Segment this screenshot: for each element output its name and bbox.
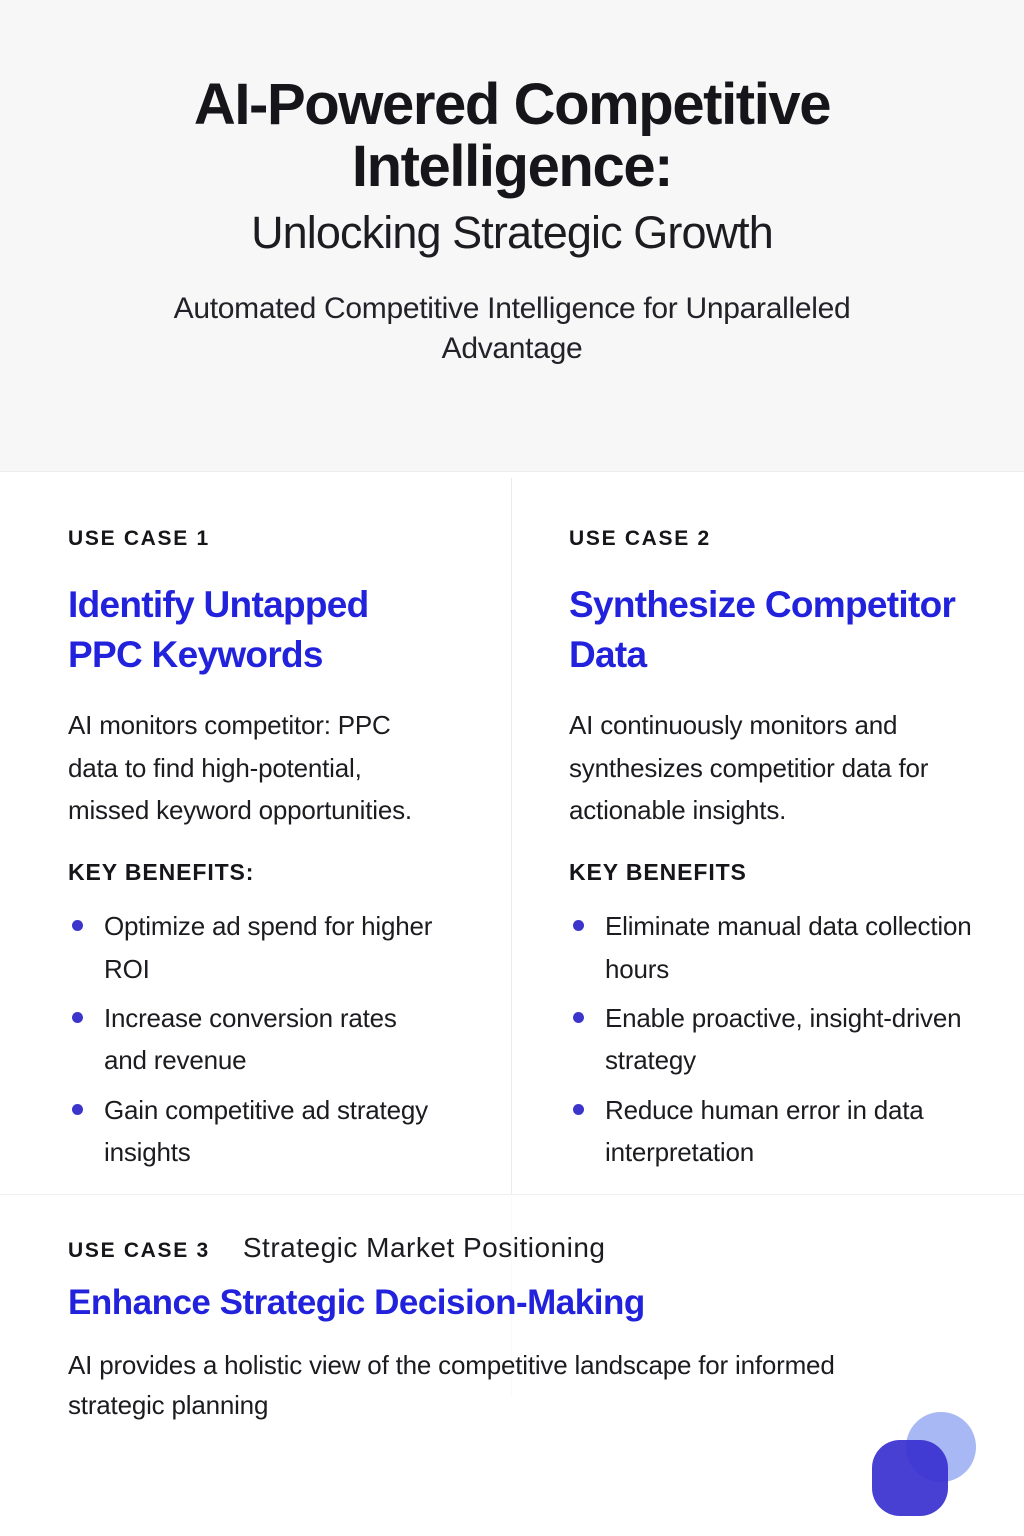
list-item: Gain competitive ad strategy insights xyxy=(68,1089,444,1174)
list-item-label: Reduce human error in data interpretatio… xyxy=(605,1095,924,1167)
list-item: Reduce human error in data interpretatio… xyxy=(569,1089,984,1174)
bullet-dot-icon xyxy=(72,1012,83,1023)
page-tagline: Automated Competitive Intelligence for U… xyxy=(122,289,902,370)
use-case-2-kicker: USE CASE 2 xyxy=(569,527,984,551)
list-item: Optimize ad spend for higher ROI xyxy=(68,905,444,990)
bullet-dot-icon xyxy=(72,1104,83,1115)
page-subtitle: Unlocking Strategic Growth xyxy=(82,208,942,258)
page-title: AI-Powered Competitive Intelligence: xyxy=(102,74,922,198)
use-case-1-body: AI monitors competitor: PPC data to find… xyxy=(68,704,444,831)
bullet-dot-icon xyxy=(573,1104,584,1115)
infographic-page: AI-Powered Competitive Intelligence: Unl… xyxy=(0,0,1024,1536)
use-case-2-body: AI continuously monitors and synthesizes… xyxy=(569,704,984,831)
use-case-3-kicker: USE CASE 3 xyxy=(68,1239,210,1263)
list-item: Eliminate manual data collection hours xyxy=(569,905,984,990)
use-case-3-tag: Strategic Market Positioning xyxy=(243,1232,606,1264)
logo-squircle-shape xyxy=(872,1440,948,1516)
header-band: AI-Powered Competitive Intelligence: Unl… xyxy=(0,0,1024,472)
list-item: Increase conversion rates and revenue xyxy=(68,997,444,1082)
list-item-label: Gain competitive ad strategy insights xyxy=(104,1095,428,1167)
list-item-label: Eliminate manual data collection hours xyxy=(605,911,971,983)
list-item-label: Increase conversion rates and revenue xyxy=(104,1003,397,1075)
use-case-columns: USE CASE 1 Identify Untapped PPC Keyword… xyxy=(0,472,1024,1194)
use-case-3-body: AI provides a holistic view of the compe… xyxy=(68,1345,898,1426)
use-case-1-card: USE CASE 1 Identify Untapped PPC Keyword… xyxy=(0,472,512,1194)
brand-logo-mark-icon xyxy=(872,1412,976,1516)
list-item: Enable proactive, insight-driven strateg… xyxy=(569,997,984,1082)
use-case-1-heading: Identify Untapped PPC Keywords xyxy=(68,580,444,679)
bullet-dot-icon xyxy=(72,920,83,931)
use-case-3-heading: Enhance Strategic Decision-Making xyxy=(68,1282,956,1324)
list-item-label: Enable proactive, insight-driven strateg… xyxy=(605,1003,961,1075)
use-case-1-kicker: USE CASE 1 xyxy=(68,527,444,551)
list-item-label: Optimize ad spend for higher ROI xyxy=(104,911,432,983)
use-case-2-card: USE CASE 2 Synthesize Competitor Data AI… xyxy=(512,472,1024,1194)
use-case-3-card: USE CASE 3 Strategic Market Positioning … xyxy=(0,1195,1024,1536)
use-case-3-header-row: USE CASE 3 Strategic Market Positioning xyxy=(68,1232,956,1264)
use-case-2-heading: Synthesize Competitor Data xyxy=(569,580,984,679)
bullet-dot-icon xyxy=(573,920,584,931)
use-case-1-benefits-list: Optimize ad spend for higher ROI Increas… xyxy=(68,905,444,1173)
bullet-dot-icon xyxy=(573,1012,584,1023)
use-case-2-benefits-label: KEY BENEFITS xyxy=(569,859,984,886)
use-case-2-benefits-list: Eliminate manual data collection hours E… xyxy=(569,905,984,1173)
use-case-1-benefits-label: KEY BENEFITS: xyxy=(68,859,444,886)
